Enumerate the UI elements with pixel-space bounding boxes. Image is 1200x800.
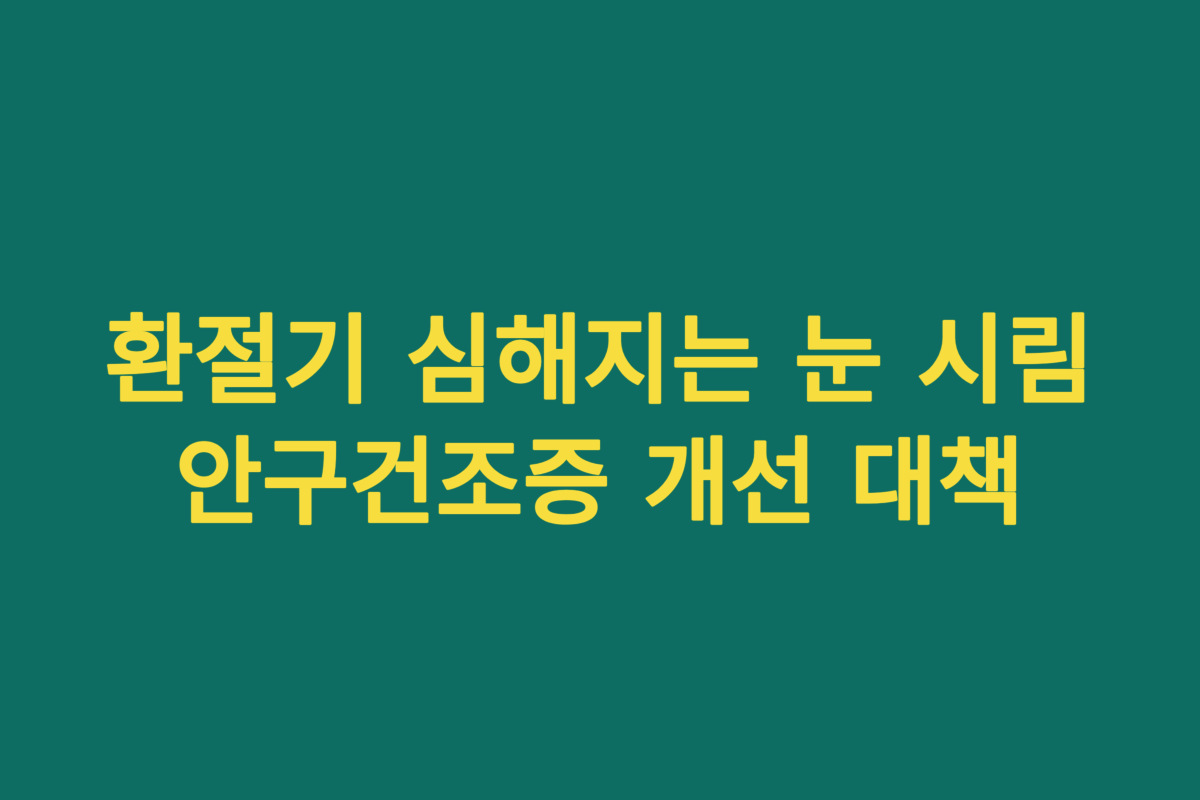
title-line-1: 환절기 심해지는 눈 시림 [40, 299, 1160, 424]
title-card-canvas: 환절기 심해지는 눈 시림 안구건조증 개선 대책 [0, 0, 1200, 800]
title-line-2: 안구건조증 개선 대책 [40, 423, 1160, 545]
title-block: 환절기 심해지는 눈 시림 안구건조증 개선 대책 [40, 299, 1160, 546]
